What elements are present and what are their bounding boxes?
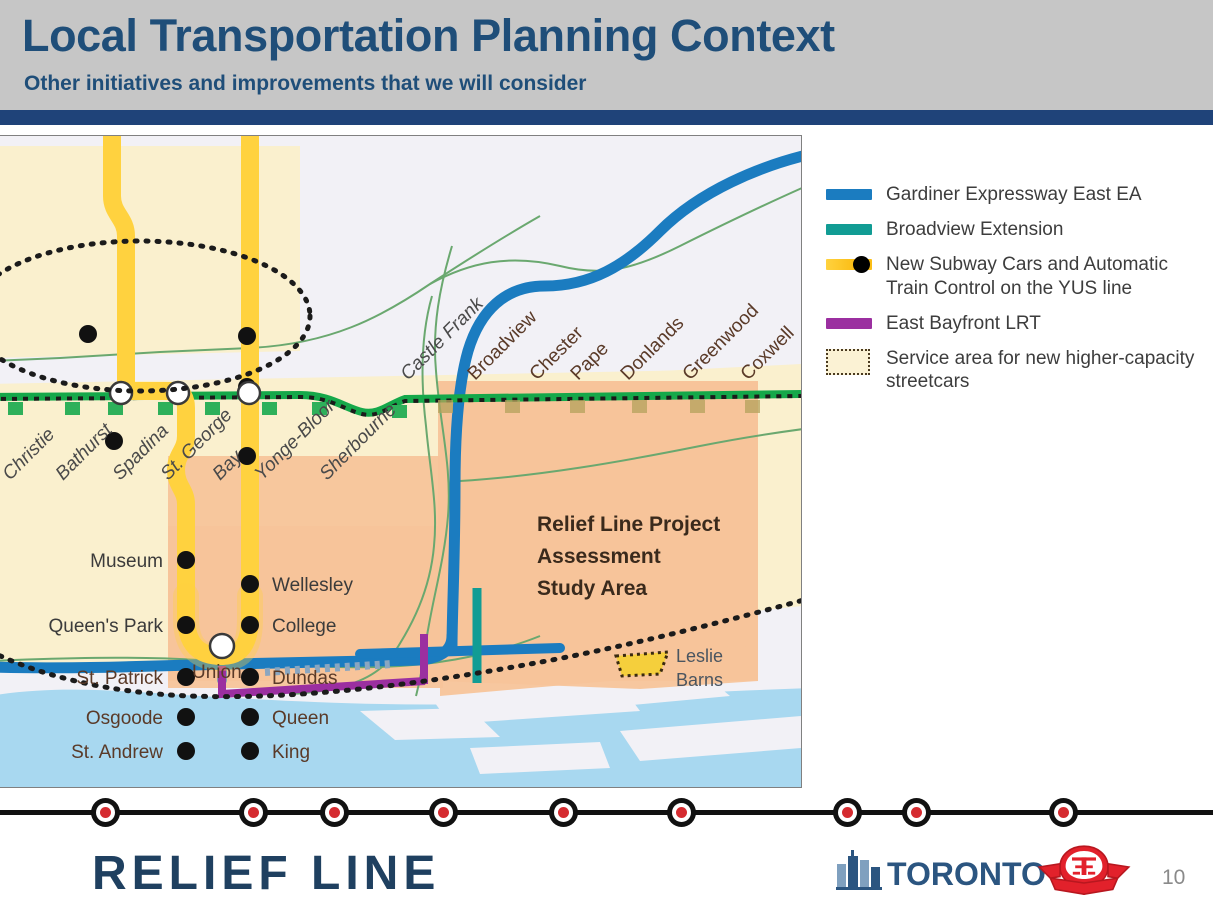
station-dot-museum bbox=[177, 551, 195, 569]
map-station-label-union: Union bbox=[192, 662, 242, 683]
legend-label-streetcar-service-area: Service area for new higher-capacity str… bbox=[886, 347, 1206, 393]
legend-item-broadview: Broadview Extension bbox=[826, 218, 1206, 241]
station-dot-st-andrew bbox=[177, 742, 195, 760]
station-dot-wellesley bbox=[241, 575, 259, 593]
page-title: Local Transportation Planning Context bbox=[22, 12, 835, 59]
relief-line-brand-wordmark: RELIEF LINE bbox=[92, 846, 440, 901]
footer-stop-marker bbox=[902, 798, 931, 827]
legend-swatch-subway-cars bbox=[826, 259, 872, 270]
map-station-label-queen: Queen bbox=[272, 708, 329, 729]
station-dot-yonge-upper-1 bbox=[238, 327, 256, 345]
header-divider-rule bbox=[0, 110, 1213, 125]
toronto-wordmark: TORONTO bbox=[887, 858, 1046, 890]
station-dot-osgoode bbox=[177, 708, 195, 726]
map-station-label-college: College bbox=[272, 616, 336, 637]
page-subtitle: Other initiatives and improvements that … bbox=[24, 72, 586, 96]
map-station-label-st-patrick: St. Patrick bbox=[76, 668, 163, 689]
leslie-barns-label-line-2: Barns bbox=[676, 670, 723, 690]
legend-item-gardiner: Gardiner Expressway East EA bbox=[826, 183, 1206, 206]
map-station-label-king: King bbox=[272, 742, 310, 763]
gardiner-expressway-spur bbox=[360, 648, 560, 654]
legend-item-east-bayfront: East Bayfront LRT bbox=[826, 312, 1206, 335]
transit-map-figure: Christie Bathurst Spadina St. George Bay… bbox=[0, 135, 802, 788]
footer-stop-marker bbox=[833, 798, 862, 827]
station-dot-bathurst-upper bbox=[79, 325, 97, 343]
map-station-label-queens-park: Queen's Park bbox=[48, 616, 163, 637]
legend-label-gardiner: Gardiner Expressway East EA bbox=[886, 183, 1142, 206]
station-dot-king bbox=[241, 742, 259, 760]
legend-swatch-streetcar-service-area bbox=[826, 349, 872, 379]
legend-label-broadview: Broadview Extension bbox=[886, 218, 1063, 241]
map-station-label-wellesley: Wellesley bbox=[272, 575, 353, 596]
leslie-barns-shape bbox=[616, 652, 668, 676]
map-station-label-dundas: Dundas bbox=[272, 668, 338, 689]
footer-stop-marker bbox=[239, 798, 268, 827]
study-area-label-line-1: Relief Line Project bbox=[537, 513, 720, 536]
legend-swatch-broadview bbox=[826, 224, 872, 235]
legend-label-subway-cars: New Subway Cars and Automatic Train Cont… bbox=[886, 253, 1206, 299]
leslie-barns-label-line-1: Leslie bbox=[676, 646, 723, 666]
station-dot-queen bbox=[241, 708, 259, 726]
station-marker-bay bbox=[238, 382, 260, 404]
legend-subway-station-dot-icon bbox=[853, 256, 870, 273]
legend-item-subway-cars: New Subway Cars and Automatic Train Cont… bbox=[826, 253, 1206, 299]
footer-stop-marker bbox=[429, 798, 458, 827]
study-area-label-line-2: Assessment bbox=[537, 545, 661, 568]
legend-swatch-gardiner bbox=[826, 189, 872, 200]
footer-stop-marker bbox=[667, 798, 696, 827]
page-number: 10 bbox=[1162, 866, 1185, 890]
map-station-label-st-andrew: St. Andrew bbox=[71, 742, 163, 763]
station-marker-union bbox=[210, 634, 234, 658]
station-dot-college bbox=[241, 616, 259, 634]
map-station-label-osgoode: Osgoode bbox=[86, 708, 163, 729]
legend-swatch-east-bayfront bbox=[826, 318, 872, 329]
study-area-label-line-3: Study Area bbox=[537, 577, 647, 600]
station-dot-queens-park bbox=[177, 616, 195, 634]
footer-stop-marker bbox=[320, 798, 349, 827]
legend-item-streetcar-service-area: Service area for new higher-capacity str… bbox=[826, 347, 1206, 393]
map-station-label-museum: Museum bbox=[90, 551, 163, 572]
footer-stop-marker bbox=[1049, 798, 1078, 827]
station-dot-dundas bbox=[241, 668, 259, 686]
footer-stop-marker bbox=[91, 798, 120, 827]
legend-label-east-bayfront: East Bayfront LRT bbox=[886, 312, 1041, 335]
footer-transit-line bbox=[0, 810, 1213, 815]
transit-map-svg: Christie Bathurst Spadina St. George Bay… bbox=[0, 136, 801, 788]
city-of-toronto-logo: TORONTO bbox=[836, 848, 1046, 890]
station-marker-st-george bbox=[167, 382, 189, 404]
ttc-logo-icon bbox=[1036, 843, 1132, 899]
footer-stop-marker bbox=[549, 798, 578, 827]
toronto-towers-icon bbox=[836, 850, 882, 890]
map-legend: Gardiner Expressway East EA Broadview Ex… bbox=[826, 183, 1206, 405]
